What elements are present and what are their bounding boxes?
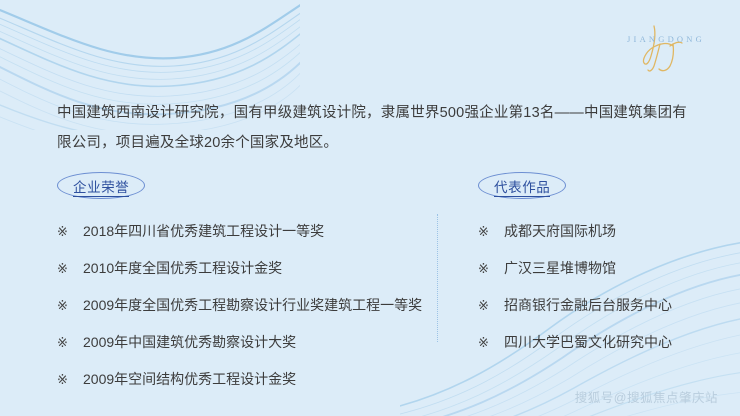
bullet-icon: ※ [57,296,83,316]
section-works: 代表作品 ※ 成都天府国际机场 ※ 广汉三星堆博物馆 ※ 招商银行金融后台服务中… [478,172,708,353]
list-item: ※ 2010年度全国优秀工程设计金奖 [57,258,432,279]
brand-logo: JIANGDONG [610,16,722,72]
slide-canvas: JIANGDONG 中国建筑西南设计研究院，国有甲级建筑设计院，隶属世界500强… [0,0,740,416]
list-item-text: 成都天府国际机场 [504,221,708,241]
bullet-icon: ※ [57,222,83,242]
bullet-icon: ※ [478,333,504,353]
brand-wordmark: JIANGDONG [610,34,722,44]
section-title-works: 代表作品 [478,172,566,199]
list-item: ※ 招商银行金融后台服务中心 [478,295,708,316]
bullet-icon: ※ [478,296,504,316]
list-item-text: 2009年空间结构优秀工程设计金奖 [83,369,432,389]
list-item: ※ 2009年中国建筑优秀勘察设计大奖 [57,332,432,353]
intro-paragraph: 中国建筑西南设计研究院，国有甲级建筑设计院，隶属世界500强企业第13名——中国… [57,98,687,158]
bullet-icon: ※ [478,222,504,242]
bullet-icon: ※ [57,259,83,279]
bullet-icon: ※ [57,370,83,390]
list-item-text: 广汉三星堆博物馆 [504,258,708,278]
honors-list: ※ 2018年四川省优秀建筑工程设计一等奖 ※ 2010年度全国优秀工程设计金奖… [57,221,432,390]
list-item-text: 2010年度全国优秀工程设计金奖 [83,258,432,278]
list-item-text: 四川大学巴蜀文化研究中心 [504,332,708,352]
works-list: ※ 成都天府国际机场 ※ 广汉三星堆博物馆 ※ 招商银行金融后台服务中心 ※ 四… [478,221,708,353]
section-title-honors-label: 企业荣誉 [73,180,129,197]
list-item-text: 2009年中国建筑优秀勘察设计大奖 [83,332,432,352]
column-divider [437,214,438,342]
list-item-text: 2009年度全国优秀工程勘察设计行业奖建筑工程一等奖 [83,295,432,315]
list-item: ※ 四川大学巴蜀文化研究中心 [478,332,708,353]
list-item: ※ 2009年空间结构优秀工程设计金奖 [57,369,432,390]
section-honors: 企业荣誉 ※ 2018年四川省优秀建筑工程设计一等奖 ※ 2010年度全国优秀工… [57,172,432,390]
source-watermark: 搜狐号@搜狐焦点肇庆站 [575,387,718,406]
section-title-honors: 企业荣誉 [57,172,145,199]
bullet-icon: ※ [57,333,83,353]
section-title-works-label: 代表作品 [494,180,550,197]
bullet-icon: ※ [478,259,504,279]
list-item: ※ 2009年度全国优秀工程勘察设计行业奖建筑工程一等奖 [57,295,432,316]
list-item: ※ 成都天府国际机场 [478,221,708,242]
list-item: ※ 2018年四川省优秀建筑工程设计一等奖 [57,221,432,242]
signature-script-icon [610,16,722,72]
list-item-text: 招商银行金融后台服务中心 [504,295,708,315]
list-item-text: 2018年四川省优秀建筑工程设计一等奖 [83,221,432,241]
list-item: ※ 广汉三星堆博物馆 [478,258,708,279]
